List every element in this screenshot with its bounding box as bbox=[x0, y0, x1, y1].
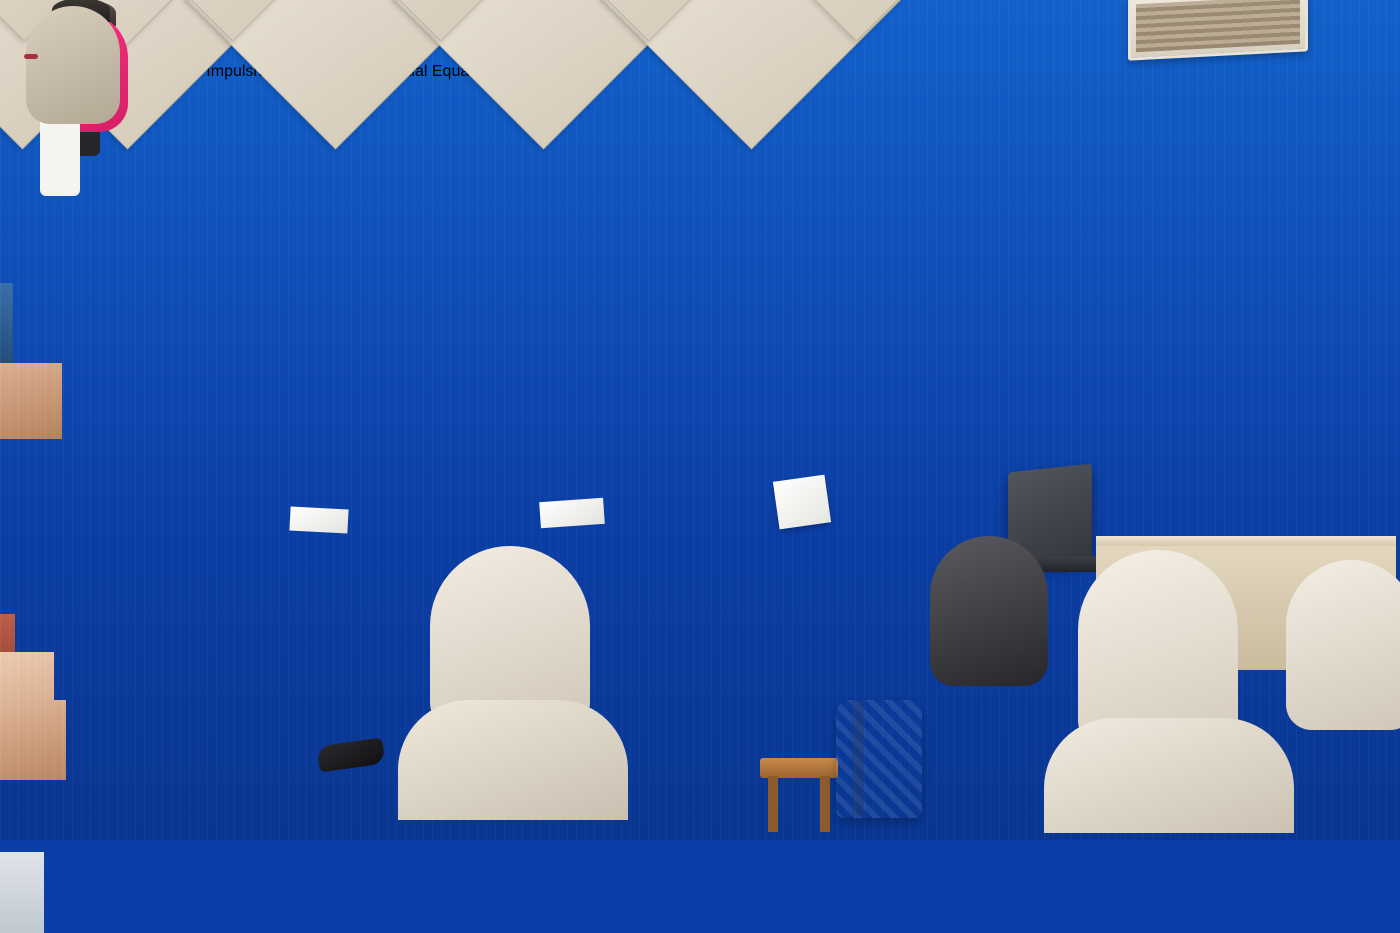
papers-left bbox=[289, 506, 348, 533]
backpack-strap bbox=[852, 700, 864, 816]
wooden-stool bbox=[760, 758, 838, 778]
backpack bbox=[836, 700, 922, 818]
stool-leg-left bbox=[768, 776, 778, 832]
audience-student-3 bbox=[1286, 560, 1400, 730]
ceiling-diamond-panels bbox=[0, 0, 1300, 270]
audience-student-2-shoulder bbox=[1044, 718, 1294, 833]
stool-leg-right bbox=[820, 776, 830, 832]
papers-mid bbox=[539, 498, 605, 528]
audience-student-1-shoulder bbox=[398, 700, 628, 820]
papers-center bbox=[773, 475, 831, 530]
side-cabinet-edge bbox=[1096, 536, 1396, 546]
air-conditioner-vent bbox=[1128, 0, 1308, 61]
screenshot-root: Stability of some Classes for Impulsive … bbox=[0, 0, 1400, 933]
audience-student-4 bbox=[930, 536, 1048, 686]
hall-wall: Stability of some Classes for Impulsive … bbox=[0, 0, 1400, 840]
beige-hijab bbox=[26, 6, 120, 124]
